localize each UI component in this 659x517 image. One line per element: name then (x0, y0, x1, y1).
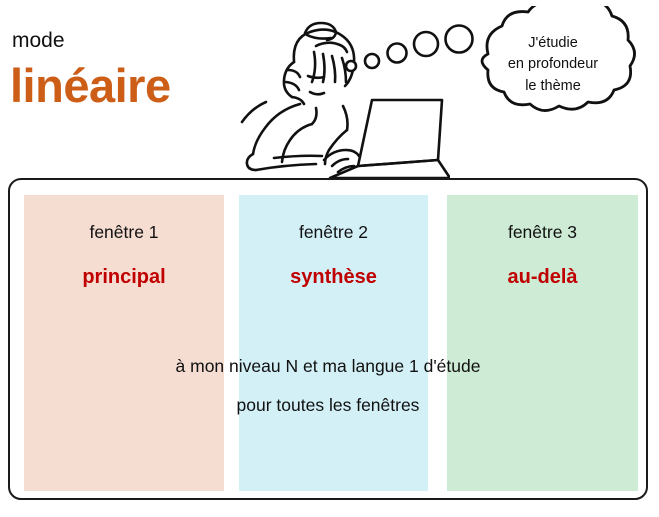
thought-cloud-line-1: J'étudie (472, 33, 634, 54)
window-column-1-keyword: principal (24, 267, 224, 287)
thought-cloud-line-3: le thème (472, 76, 634, 97)
window-column-3-keyword: au-delà (447, 267, 638, 287)
page-title: linéaire (10, 62, 171, 109)
window-column-2-keyword: synthèse (239, 267, 428, 287)
mode-label: mode (12, 30, 65, 51)
thought-cloud-line-2: en profondeur (472, 54, 634, 75)
thought-cloud-text: J'étudie en profondeur le thème (472, 33, 634, 97)
window-column-1[interactable]: fenêtre 1 principal (24, 195, 224, 491)
window-column-1-header: fenêtre 1 (24, 224, 224, 242)
window-column-3[interactable]: fenêtre 3 au-delà (447, 195, 638, 491)
header-area: mode linéaire (0, 0, 659, 178)
window-column-2[interactable]: fenêtre 2 synthèse (239, 195, 428, 491)
window-column-2-header: fenêtre 2 (239, 224, 428, 242)
window-column-3-header: fenêtre 3 (447, 224, 638, 242)
windows-frame: fenêtre 1 principal fenêtre 2 synthèse f… (8, 178, 648, 500)
